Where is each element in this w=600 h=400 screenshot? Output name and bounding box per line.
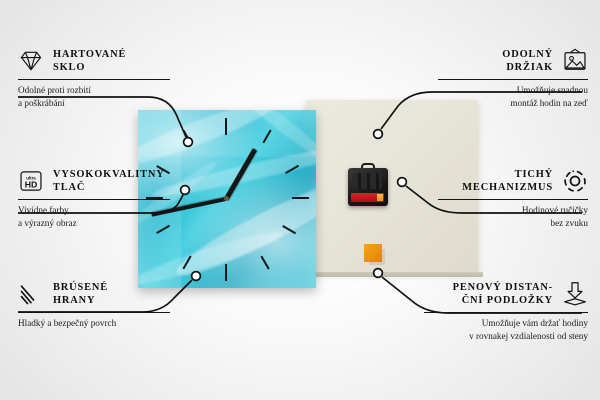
feature-desc-2: montáž hodin na zeď [438,97,588,109]
foam-spacer-arrow-icon [562,281,588,307]
feature-desc-2: a výrazný obraz [18,217,170,229]
feature-desc-1: Umožňuje snadnou [438,84,588,96]
feature-desc-1: Odolné proti rozbití [18,84,170,96]
feature-desc-1: Hodinové ručičky [438,204,588,216]
feature-durable-holder: ODOLNÝ DRŽIAK Umožňuje snadnou montáž ho… [438,48,588,109]
clock-mechanism [348,168,388,206]
gear-icon [562,168,588,194]
feature-desc-2: a poškrábání [18,97,170,109]
feature-title-2: SKLO [53,61,126,74]
feature-high-quality-print: ultra HD VYSOKOKVALITNÝ TLAČ Vivídne far… [18,168,170,229]
feature-desc-1: Hladký a bezpečný povrch [18,317,170,329]
divider [438,199,588,201]
feature-title-2: MECHANIZMUS [462,181,553,194]
feature-title: ODOLNÝ [502,48,553,61]
feature-desc-1: Vivídne farby [18,204,170,216]
feature-title-2: DRŽIAK [502,61,553,74]
feature-foam-spacers: PENOVÝ DISTAN- ČNÍ PODLOŽKY Umožňuje vám… [424,281,588,342]
clock-center-pin [224,196,229,201]
feature-tempered-glass: HARTOVANÉ SKLO Odolné proti rozbití a po… [18,48,170,109]
feature-beveled-edges: BRÚSENÉ HRANY Hladký a bezpečný povrch [18,281,170,330]
divider [18,312,170,314]
mechanism-battery [351,193,384,202]
feature-title: TICHÝ [462,168,553,181]
beveled-edges-icon [18,281,44,307]
divider [18,79,170,81]
feature-silent-mechanism: TICHÝ MECHANIZMUS Hodinové ručičky bez z… [438,168,588,229]
feature-desc-2: bez zvuku [438,217,588,229]
feature-title: VYSOKOKVALITNÝ [53,168,165,181]
badge-large-text: HD [25,180,38,190]
wall-hanger-frame-icon [562,48,588,74]
diamond-icon [18,48,44,74]
divider [424,312,588,314]
feature-title: BRÚSENÉ [53,281,108,294]
ultra-hd-badge-icon: ultra HD [18,168,44,194]
feature-title-2: ČNÍ PODLOŽKY [453,294,553,307]
feature-title-2: TLAČ [53,181,165,194]
divider [438,79,588,81]
feature-desc-1: Umožňuje vám držať hodiny [424,317,588,329]
foam-spacer-pad [364,244,382,262]
feature-title: PENOVÝ DISTAN- [453,281,553,294]
feature-title-2: HRANY [53,294,108,307]
feature-title: HARTOVANÉ [53,48,126,61]
feature-desc-2: v rovnakej vzdialenosti od steny [424,330,588,342]
infographic-canvas: HARTOVANÉ SKLO Odolné proti rozbití a po… [0,0,600,400]
divider [18,199,170,201]
